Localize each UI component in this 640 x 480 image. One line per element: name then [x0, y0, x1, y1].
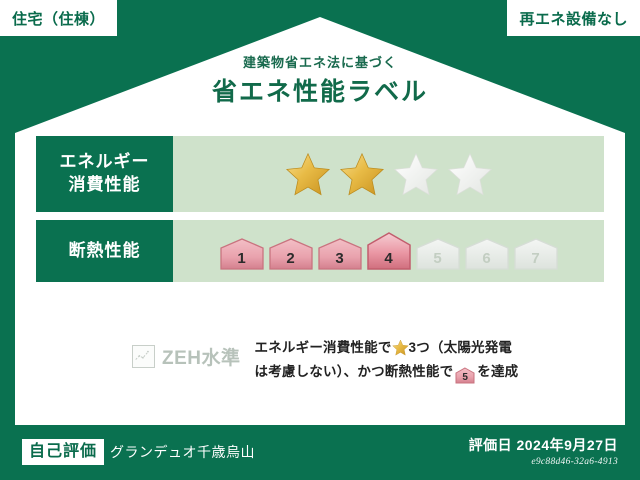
zeh-desc-line1-b: 3つ（太陽光発電 [409, 340, 513, 355]
building-name: グランデュオ千歳烏山 [110, 442, 255, 462]
zeh-badge-label: ZEH水準 [162, 343, 241, 370]
star-icon-filled-2 [339, 151, 385, 197]
zeh-badge: ZEH水準 [36, 336, 241, 370]
insulation-grade-3-label: 3 [335, 250, 343, 271]
insulation-grade-1-label: 1 [237, 250, 245, 271]
insulation-grade-3: 3 [317, 237, 363, 271]
insulation-performance-label: 断熱性能 [36, 220, 173, 282]
insulation-performance-row: 断熱性能 1 [36, 220, 604, 282]
label-footer: 自己評価 グランデュオ千歳烏山 評価日 2024年9月27日 e9c88d46-… [0, 424, 640, 480]
zeh-desc-line2-b: を達成 [477, 364, 518, 379]
insulation-grade-6: 6 [464, 237, 510, 271]
zeh-chart-icon [132, 345, 155, 368]
label-subtitle: 建築物省エネ法に基づく [0, 55, 640, 71]
footer-right-group: 評価日 2024年9月27日 e9c88d46-32a6-4913 [469, 437, 618, 467]
insulation-label-text: 断熱性能 [69, 240, 141, 263]
evaluation-id: e9c88d46-32a6-4913 [469, 457, 618, 467]
star-icon-filled-1 [285, 151, 331, 197]
energy-performance-row: エネルギー 消費性能 [36, 136, 604, 212]
insulation-grade-7-label: 7 [531, 250, 539, 271]
energy-star-rating [173, 136, 604, 212]
insulation-grade-5: 5 [415, 237, 461, 271]
insulation-grade-1: 1 [219, 237, 265, 271]
insulation-grade-2: 2 [268, 237, 314, 271]
zeh-note-block: ZEH水準 エネルギー消費性能で3つ（太陽光発電 は考慮しない）、かつ断熱性能で… [36, 336, 604, 384]
insulation-grade-4: 4 [366, 231, 412, 271]
footer-left-group: 自己評価 グランデュオ千歳烏山 [22, 439, 255, 464]
zeh-desc-line1-a: エネルギー消費性能で [255, 340, 392, 355]
insulation-grade-inline-badge: 5 [455, 367, 475, 384]
building-type-chip: 住宅（住棟） [0, 0, 117, 36]
star-icon-empty-4 [447, 151, 493, 197]
insulation-grade-7: 7 [513, 237, 559, 271]
insulation-grade-6-label: 6 [482, 250, 490, 271]
energy-performance-label: 住宅（住棟） 再エネ設備なし 建築物省エネ法に基づく 省エネ性能ラベル エネルギ… [0, 0, 640, 480]
insulation-grade-5-label: 5 [433, 250, 441, 271]
grade-row: 1 2 3 [219, 231, 559, 271]
renewable-equipment-chip: 再エネ設備なし [507, 0, 640, 36]
performance-panel: エネルギー 消費性能 [36, 136, 604, 290]
zeh-description: エネルギー消費性能で3つ（太陽光発電 は考慮しない）、かつ断熱性能で5を達成 [255, 336, 519, 384]
zeh-desc-line2-a: は考慮しない）、かつ断熱性能で [255, 364, 454, 379]
star-icon-empty-3 [393, 151, 439, 197]
renewable-equipment-chip-label: 再エネ設備なし [519, 8, 628, 29]
insulation-grade-scale: 1 2 3 [173, 220, 604, 282]
star-icon-inline [392, 339, 409, 356]
energy-label-line1: エネルギー [60, 151, 150, 174]
label-title-block: 建築物省エネ法に基づく 省エネ性能ラベル [0, 55, 640, 107]
energy-label-line2: 消費性能 [69, 174, 141, 197]
insulation-grade-2-label: 2 [286, 250, 294, 271]
building-type-chip-label: 住宅（住棟） [12, 8, 105, 29]
label-title: 省エネ性能ラベル [0, 77, 640, 107]
evaluation-date: 評価日 2024年9月27日 [469, 437, 618, 454]
insulation-grade-4-label: 4 [384, 250, 392, 271]
self-evaluation-badge: 自己評価 [22, 439, 104, 464]
energy-performance-label: エネルギー 消費性能 [36, 136, 173, 212]
insulation-grade-inline-label: 5 [455, 367, 475, 388]
